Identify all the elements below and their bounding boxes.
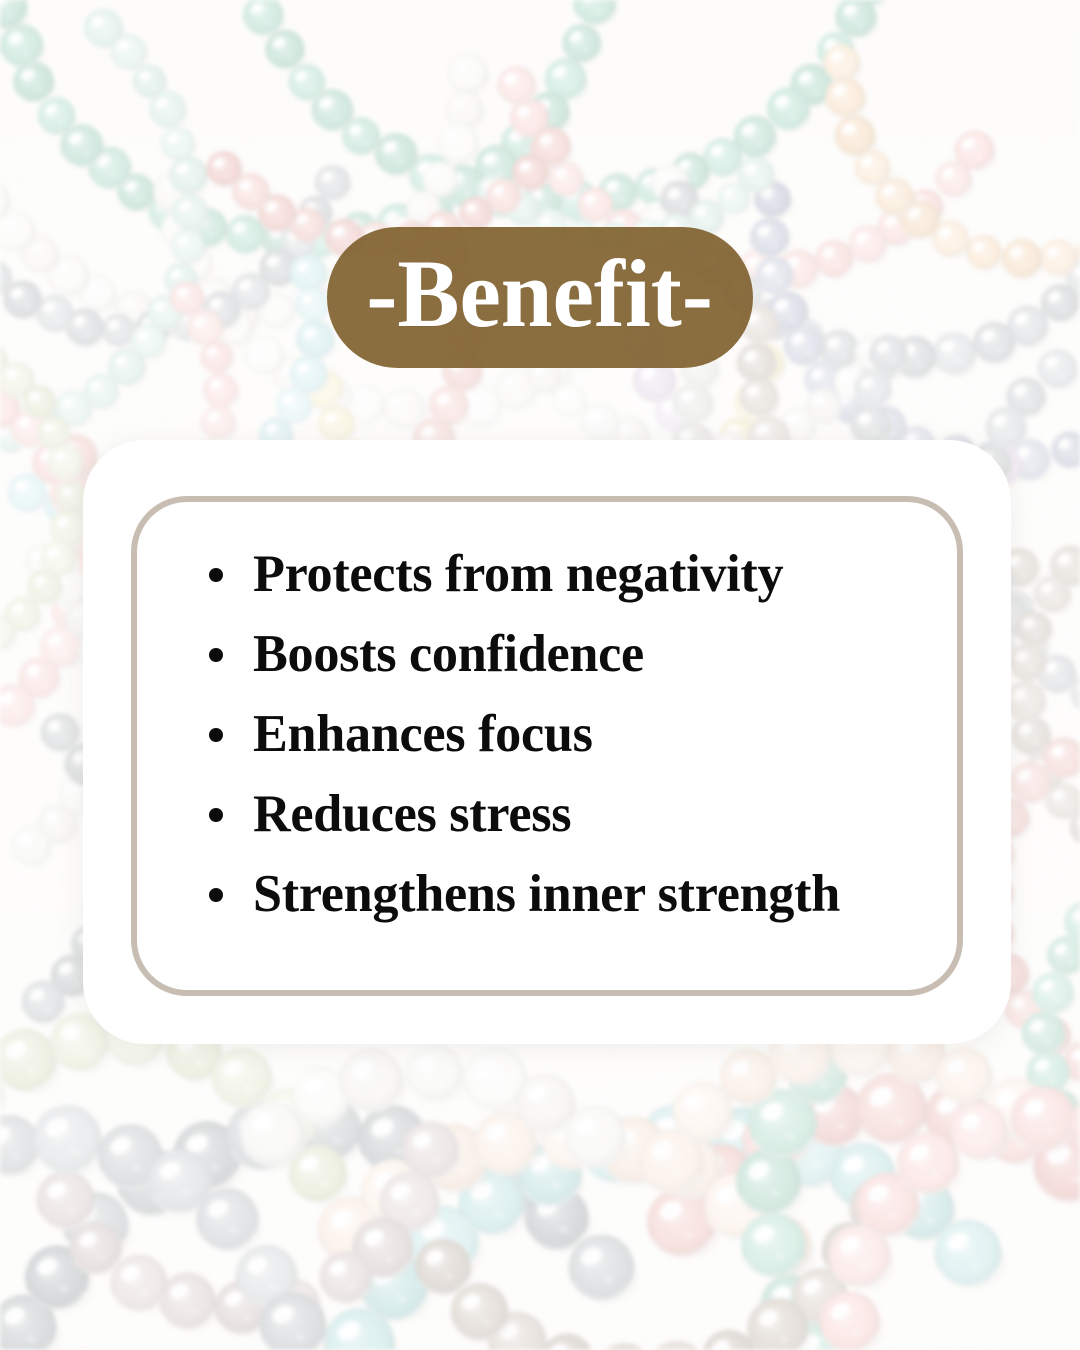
bullet-dot-icon	[209, 648, 223, 662]
benefit-item-label: Reduces stress	[253, 788, 571, 841]
benefit-item: Protects from negativity	[209, 548, 917, 601]
title-badge: -Benefit-	[327, 227, 753, 368]
benefit-item: Strengthens inner strength	[209, 868, 917, 921]
post-canvas: -Benefit- Protects from negativityBoosts…	[0, 0, 1080, 1350]
benefit-item: Enhances focus	[209, 708, 917, 761]
benefit-item-label: Strengthens inner strength	[253, 868, 840, 921]
benefits-list: Protects from negativityBoosts confidenc…	[137, 548, 957, 948]
benefit-item: Reduces stress	[209, 788, 917, 841]
bullet-dot-icon	[209, 808, 223, 822]
bullet-dot-icon	[209, 728, 223, 742]
benefit-item: Boosts confidence	[209, 628, 917, 681]
benefit-item-label: Protects from negativity	[253, 548, 783, 601]
badge-label: -Benefit-	[367, 246, 713, 342]
benefits-card: Protects from negativityBoosts confidenc…	[83, 440, 1011, 1044]
bullet-dot-icon	[209, 568, 223, 582]
card-inner-border: Protects from negativityBoosts confidenc…	[131, 496, 963, 996]
benefit-item-label: Enhances focus	[253, 708, 593, 761]
bullet-dot-icon	[209, 888, 223, 902]
benefit-item-label: Boosts confidence	[253, 628, 644, 681]
